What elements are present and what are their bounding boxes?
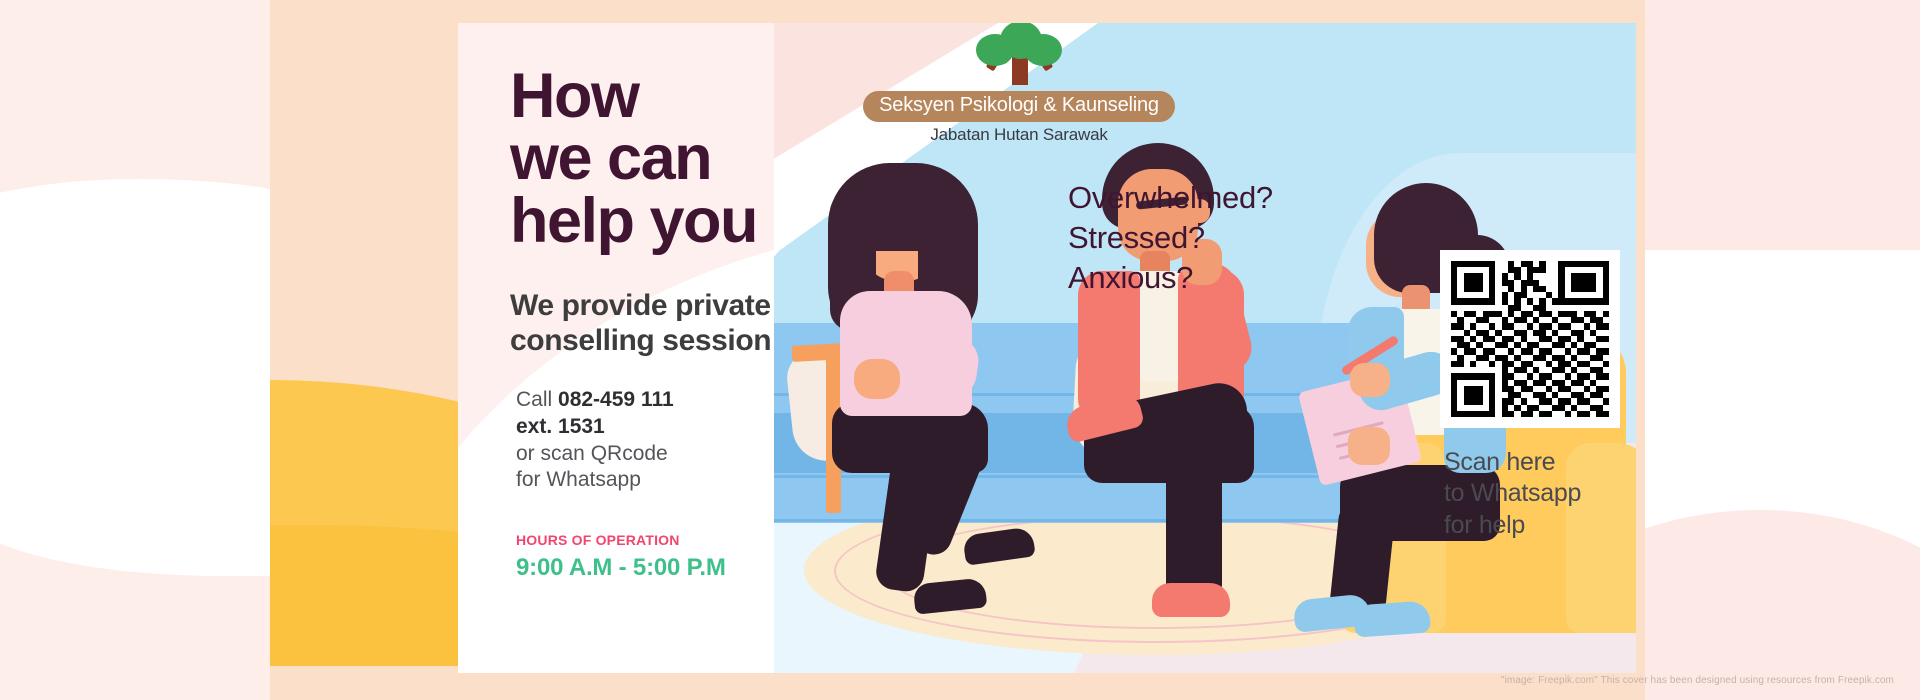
hours-label: HOURS OF OPERATION [516,532,840,548]
image-credit: "image: Freepik.com" This cover has been… [1501,675,1894,686]
counselor-hand-writing [1350,363,1390,397]
illustration-person-woman-client [822,163,1052,583]
scan-here-label: Scan here to Whatsapp for help [1444,447,1640,541]
call-label: Call [516,388,558,411]
counselor-hand-holding [1348,427,1390,465]
subheadline: We provide private conselling session [510,288,840,359]
qr-code-frame [1440,250,1620,428]
page-title: How we can help you [510,65,840,252]
counselor-shoe-right [1353,600,1431,637]
headline-text-column: How we can help you We provide private c… [510,65,840,582]
woman-hand [854,359,900,399]
qr-code[interactable] [1451,261,1609,417]
scan-instruction-line-1: or scan QRcode [516,441,840,468]
question-prompts: Overwhelmed? Stressed? Anxious? [1068,178,1273,298]
phone-extension: ext. 1531 [516,415,605,438]
counselling-promo-banner: How we can help you We provide private c… [0,0,1920,700]
phone-number[interactable]: 082-459 111 [558,388,674,411]
scan-instruction-line-2: for Whatsapp [516,467,840,494]
contact-phone-line: Call 082-459 111 [516,387,840,414]
organization-name: Seksyen Psikologi & Kaunseling [863,91,1175,122]
tree-icon [974,23,1064,85]
hours-of-operation-block: HOURS OF OPERATION 9:00 A.M - 5:00 P.M [516,532,840,582]
hours-value: 9:00 A.M - 5:00 P.M [516,554,840,582]
man-shoe-down [1152,583,1230,617]
qr-code-column: Scan here to Whatsapp for help [1440,250,1640,541]
woman-shoe-front [962,526,1035,565]
contact-block: Call 082-459 111 ext. 1531 or scan QRcod… [516,387,840,495]
department-name: Jabatan Hutan Sarawak [854,125,1184,145]
organization-logo: Seksyen Psikologi & Kaunseling Jabatan H… [854,23,1184,145]
